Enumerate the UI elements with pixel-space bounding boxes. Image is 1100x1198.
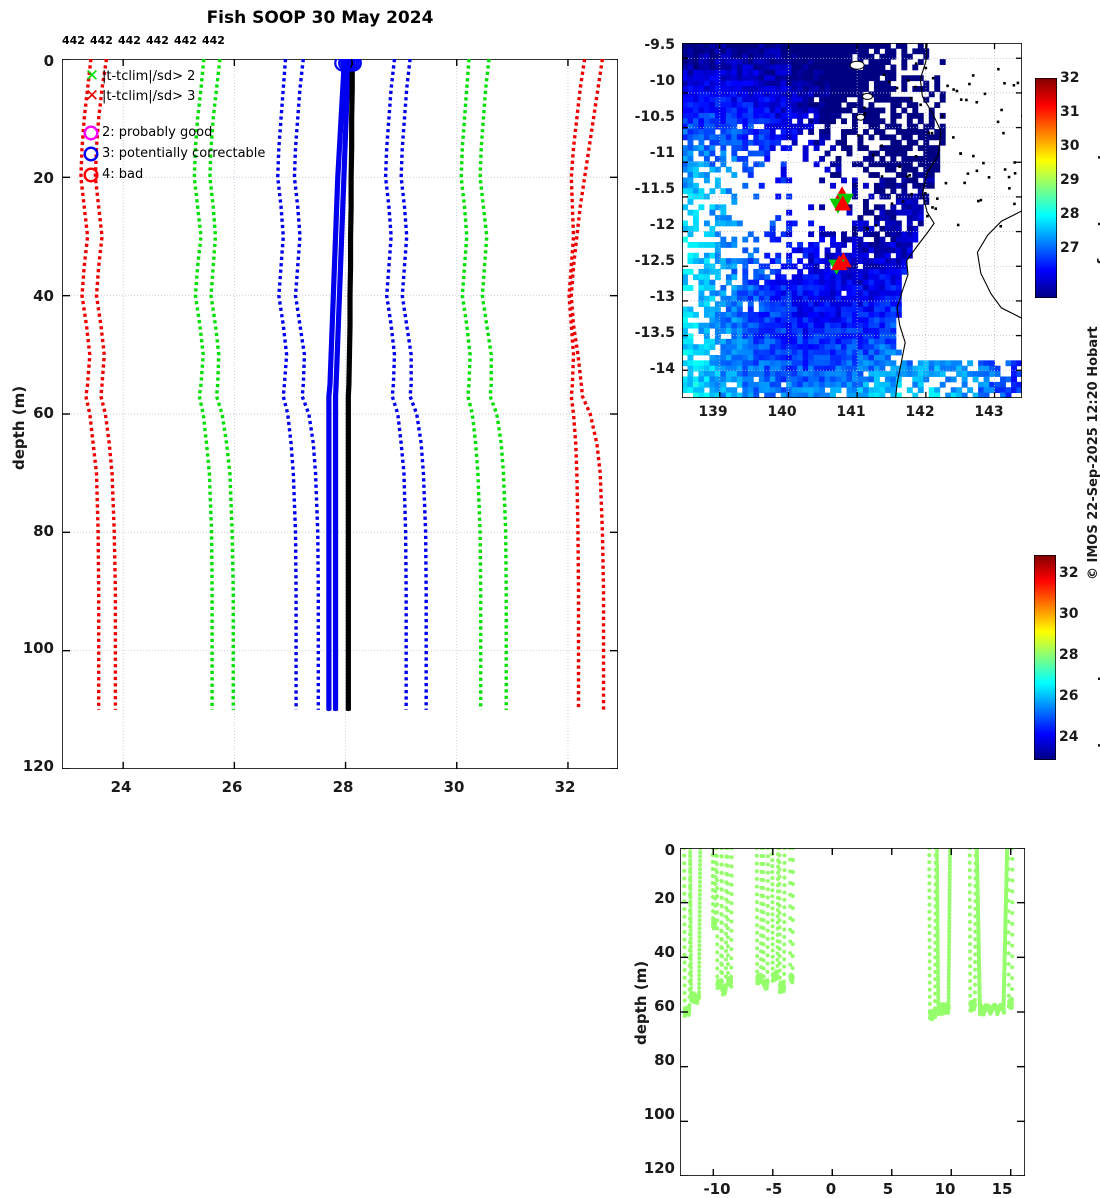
- legend-label-flag3: 3: potentially correctable: [102, 146, 265, 161]
- map-xtick-139: 139: [695, 404, 731, 420]
- map-plot-area: [682, 43, 1022, 398]
- map-ytick-2: -10.5: [620, 109, 675, 125]
- cross-icon-red: ✕: [82, 86, 102, 106]
- map-ytick-4: -11.5: [620, 181, 675, 197]
- profile-xtick-28: 28: [328, 778, 358, 796]
- legend-gap: [82, 106, 342, 122]
- ts-xtick-10: 10: [925, 1180, 965, 1198]
- legend-label-flag4: 4: bad: [102, 167, 143, 182]
- profile-ytick-0: 0: [28, 52, 54, 70]
- ts-xtick-15: 15: [982, 1180, 1022, 1198]
- map-ytick-1: -10: [620, 73, 675, 89]
- top-count-1: 442: [90, 34, 113, 47]
- profile-ytick-20: 20: [18, 169, 54, 187]
- legend-row-flag2: 2: probably good: [82, 122, 342, 143]
- map-cbtick-32: 32: [1060, 70, 1079, 86]
- map-ytick-0: -9.5: [620, 37, 675, 53]
- ts-xtick--10: -10: [697, 1180, 737, 1198]
- profile-legend: ✕ |t-tclim|/sd> 2 ✕ |t-tclim|/sd> 3 2: p…: [82, 66, 342, 185]
- circle-icon-red: [82, 166, 102, 184]
- map-ytick-5: -12: [620, 217, 675, 233]
- map-cbtick-28: 28: [1060, 206, 1079, 222]
- ts-cbtick-26: 26: [1059, 688, 1078, 704]
- legend-row-flag4: 4: bad: [82, 164, 342, 185]
- map-colorbar: [1035, 78, 1057, 298]
- legend-label-sd3: |t-tclim|/sd> 3: [102, 89, 195, 104]
- ts-ytick-120: 120: [620, 1159, 675, 1177]
- profile-xtick-30: 30: [439, 778, 469, 796]
- ts-cbtick-24: 24: [1059, 729, 1078, 745]
- legend-row-cross2: ✕ |t-tclim|/sd> 2: [82, 66, 342, 86]
- ts-cbtick-28: 28: [1059, 647, 1078, 663]
- map-xtick-142: 142: [902, 404, 938, 420]
- legend-label-flag2: 2: probably good: [102, 125, 212, 140]
- ts-ytick-0: 0: [620, 841, 675, 859]
- profile-ytick-100: 100: [8, 639, 54, 657]
- ts-ytick-60: 60: [620, 997, 675, 1015]
- ts-xtick-0: 0: [811, 1180, 851, 1198]
- profile-ytick-80: 80: [18, 522, 54, 540]
- legend-label-sd2: |t-tclim|/sd> 2: [102, 69, 195, 84]
- ts-cbtick-32: 32: [1059, 565, 1078, 581]
- profile-ytick-40: 40: [18, 287, 54, 305]
- top-count-3: 442: [146, 34, 169, 47]
- cross-icon-green: ✕: [82, 66, 102, 86]
- map-xtick-143: 143: [971, 404, 1007, 420]
- map-cbtick-31: 31: [1060, 104, 1079, 120]
- profile-xtick-24: 24: [106, 778, 136, 796]
- map-ytick-7: -13: [620, 289, 675, 305]
- profile-ytick-120: 120: [8, 757, 54, 775]
- ts-ytick-40: 40: [620, 943, 675, 961]
- circle-icon-magenta: [82, 124, 102, 142]
- map-cbtick-27: 27: [1060, 240, 1079, 256]
- map-ytick-6: -12.5: [620, 253, 675, 269]
- map-ytick-9: -14: [620, 361, 675, 377]
- top-count-2: 442: [118, 34, 141, 47]
- legend-row-flag3: 3: potentially correctable: [82, 143, 342, 164]
- ts-xtick-5: 5: [868, 1180, 908, 1198]
- map-panel: -9.5 -10 -10.5 -11 -11.5 -12 -12.5 -13 -…: [620, 20, 1100, 440]
- map-ytick-8: -13.5: [620, 325, 675, 341]
- ts-ytick-80: 80: [620, 1051, 675, 1069]
- map-xtick-141: 141: [833, 404, 869, 420]
- map-cbtick-30: 30: [1060, 138, 1079, 154]
- profile-top-counts: 442 442 442 442 442 442: [62, 34, 482, 50]
- ts-plot-area: [680, 848, 1025, 1176]
- map-ytick-3: -11: [620, 145, 675, 161]
- profile-xtick-26: 26: [217, 778, 247, 796]
- profile-panel: 442 442 442 442 442 442 0 20 40 60 80 10…: [0, 0, 620, 820]
- map-xtick-140: 140: [764, 404, 800, 420]
- profile-xtick-32: 32: [550, 778, 580, 796]
- legend-row-cross3: ✕ |t-tclim|/sd> 3: [82, 86, 342, 106]
- circle-icon-blue: [82, 145, 102, 163]
- ts-colorbar: [1034, 555, 1056, 760]
- ts-cbtick-30: 30: [1059, 606, 1078, 622]
- top-count-5: 442: [202, 34, 225, 47]
- ts-ytick-100: 100: [620, 1105, 675, 1123]
- timeseries-panel: 0 20 40 60 80 100 120 depth (m) -10 -5 0…: [620, 420, 1100, 820]
- map-cbtick-29: 29: [1060, 172, 1079, 188]
- ts-xtick--5: -5: [754, 1180, 794, 1198]
- top-count-4: 442: [174, 34, 197, 47]
- top-count-0: 442: [62, 34, 85, 47]
- ts-ytick-20: 20: [620, 889, 675, 907]
